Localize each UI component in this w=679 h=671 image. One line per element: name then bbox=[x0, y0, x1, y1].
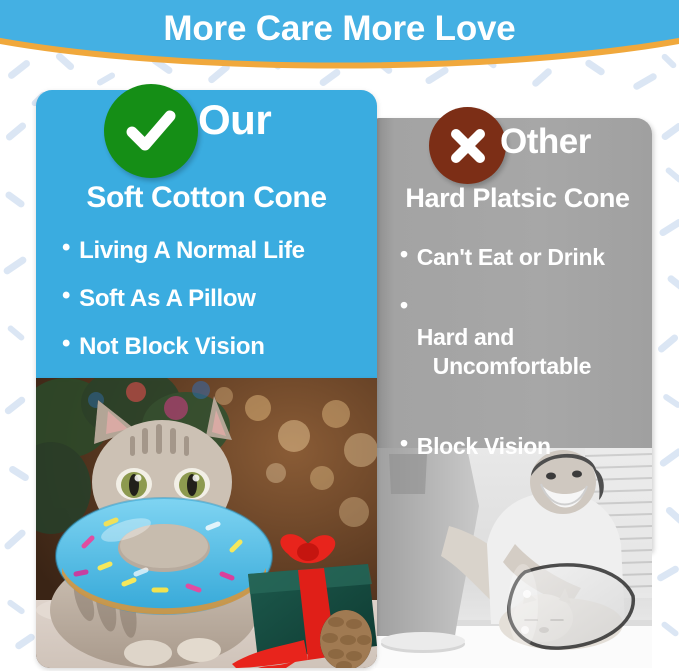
photo-other-illustration bbox=[375, 448, 652, 668]
page-title: More Care More Love bbox=[0, 0, 679, 58]
confetti-dash bbox=[2, 255, 27, 275]
list-item-label: Not Block Vision bbox=[79, 332, 264, 362]
confetti-dash bbox=[662, 393, 679, 409]
list-item-label: Living A Normal Life bbox=[79, 236, 305, 266]
photo-other-product bbox=[375, 448, 652, 668]
check-icon bbox=[119, 99, 183, 163]
bullet-marker: • bbox=[62, 284, 70, 308]
list-item: • Soft As A Pillow bbox=[62, 284, 377, 332]
confetti-dash bbox=[14, 632, 36, 650]
subtitle-our: Soft Cotton Cone bbox=[36, 181, 377, 215]
confetti-dash bbox=[5, 121, 28, 142]
feature-list-other: • Can't Eat or Drink • Hard and Uncomfor… bbox=[400, 243, 655, 461]
list-item-label: Can't Eat or Drink bbox=[417, 243, 605, 272]
confetti-dash bbox=[8, 465, 30, 483]
confetti-dash bbox=[658, 447, 679, 468]
list-item-label: Hard and Uncomfortable bbox=[417, 294, 591, 410]
subtitle-other: Hard Platsic Cone bbox=[375, 183, 660, 214]
list-item-line-1: Hard and bbox=[417, 324, 514, 350]
confetti-dash bbox=[658, 218, 679, 238]
infographic-root: More Care More Love Our Other Soft Cotto… bbox=[0, 0, 679, 671]
header-banner: More Care More Love bbox=[0, 0, 679, 72]
bullet-marker: • bbox=[400, 432, 408, 455]
list-item: • Living A Normal Life bbox=[62, 236, 377, 284]
confetti-dash bbox=[660, 620, 679, 637]
confetti-dash bbox=[660, 122, 679, 142]
bullet-marker: • bbox=[400, 243, 408, 266]
confetti-dash bbox=[664, 506, 679, 526]
confetti-dash bbox=[657, 333, 679, 354]
list-item-line-2: Uncomfortable bbox=[417, 352, 591, 381]
cross-icon bbox=[443, 121, 493, 171]
confetti-dash bbox=[4, 190, 26, 209]
list-item: • Hard and Uncomfortable bbox=[400, 294, 655, 410]
list-item: • Can't Eat or Drink bbox=[400, 243, 655, 272]
bullet-marker: • bbox=[62, 236, 70, 260]
confetti-dash bbox=[656, 564, 679, 582]
confetti-dash bbox=[3, 528, 27, 551]
photo-our-product bbox=[36, 378, 377, 668]
cross-badge bbox=[429, 107, 506, 184]
bullet-marker: • bbox=[400, 294, 408, 317]
confetti-dash bbox=[664, 166, 679, 183]
confetti-dash bbox=[6, 324, 25, 341]
bullet-marker: • bbox=[62, 332, 70, 356]
heading-other: Other bbox=[500, 122, 591, 162]
photo-our-illustration bbox=[36, 378, 377, 668]
confetti-dash bbox=[6, 599, 26, 616]
feature-list-our: • Living A Normal Life • Soft As A Pillo… bbox=[62, 236, 377, 380]
confetti-dash bbox=[666, 274, 679, 293]
list-item: • Block Vision bbox=[400, 432, 655, 461]
list-item-label: Block Vision bbox=[417, 432, 551, 461]
confetti-dash bbox=[3, 395, 26, 415]
heading-our: Our bbox=[198, 96, 271, 144]
check-badge bbox=[104, 84, 198, 178]
list-item: • Not Block Vision bbox=[62, 332, 377, 380]
list-item-label: Soft As A Pillow bbox=[79, 284, 256, 314]
